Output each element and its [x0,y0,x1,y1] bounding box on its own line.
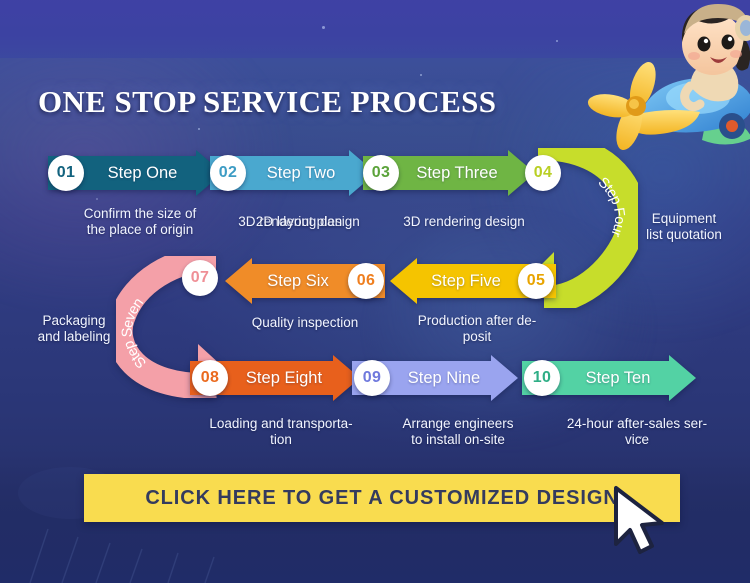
step-caption-08: Loading and transporta- tion [192,416,370,448]
step-badge-05[interactable]: 05 [518,263,554,299]
step-number-01: 01 [57,164,75,182]
step-number-05: 05 [527,272,545,290]
step-caption-02b: 2D layout plan [204,214,394,230]
step-badge-06[interactable]: 06 [348,263,384,299]
mascot-girl-pilot-icon [586,0,750,154]
star [96,198,98,200]
cta-label: CLICK HERE TO GET A CUSTOMIZED DESIGN [145,487,618,510]
step-badge-08[interactable]: 08 [192,360,228,396]
star [198,128,200,130]
mouse-cursor-icon [608,484,670,558]
step-caption-06: Quality inspection [224,315,386,331]
star [420,74,422,76]
star [556,40,558,42]
step-badge-03[interactable]: 03 [363,155,399,191]
step-badge-01[interactable]: 01 [48,155,84,191]
cta-button[interactable]: CLICK HERE TO GET A CUSTOMIZED DESIGN [84,474,680,522]
step-caption-04: Equipment list quotation [622,211,746,243]
star [322,26,325,29]
step-caption-10: 24-hour after-sales ser- vice [546,416,728,448]
step-number-04: 04 [534,164,552,182]
step-number-02: 02 [219,164,237,182]
step-caption-09: Arrange engineers to install on-site [378,416,538,448]
step-caption-05: Production after de- posit [394,313,560,345]
step-badge-04[interactable]: 04 [525,155,561,191]
step-number-09: 09 [363,369,381,387]
step-number-07: 07 [191,269,209,287]
step-badge-10[interactable]: 10 [524,360,560,396]
infographic-canvas: ONE STOP SERVICE PROCESS Step One 01 Con… [0,0,750,583]
step-badge-09[interactable]: 09 [354,360,390,396]
step-badge-02[interactable]: 02 [210,155,246,191]
step-number-10: 10 [533,369,551,387]
step-number-03: 03 [372,164,390,182]
page-title: ONE STOP SERVICE PROCESS [38,84,496,120]
step-badge-07[interactable]: 07 [182,260,218,296]
step-number-06: 06 [357,272,375,290]
step-caption-07: Packaging and labeling [22,313,126,345]
step-number-08: 08 [201,369,219,387]
